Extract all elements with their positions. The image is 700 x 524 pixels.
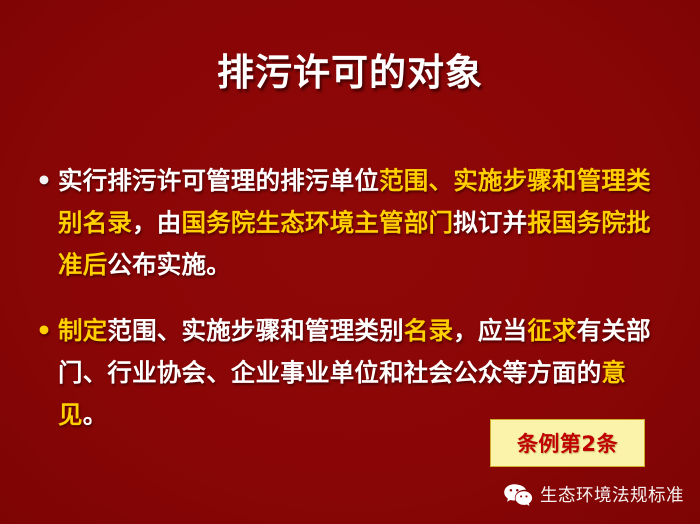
text-run: 制定 <box>58 316 107 345</box>
text-run: 征求 <box>527 316 576 345</box>
list-item: • 实行排污许可管理的排污单位范围、实施步骤和管理类别名录，由国务院生态环境主管… <box>36 160 666 286</box>
bullet-list: • 实行排污许可管理的排污单位范围、实施步骤和管理类别名录，由国务院生态环境主管… <box>36 160 666 436</box>
text-run: 国务院生态环境主管部门 <box>182 208 454 237</box>
text-run: 拟订并 <box>453 208 527 237</box>
bullet-marker-icon: • <box>36 160 58 202</box>
text-run: 范围、实施步骤和管理类别 <box>107 316 403 345</box>
text-run: ，应当 <box>453 316 527 345</box>
reference-badge: 条例第2条 <box>490 419 645 467</box>
reference-badge-label: 条例第2条 <box>517 428 618 458</box>
wechat-icon <box>503 483 533 507</box>
watermark: 生态环境法规标准 <box>503 482 684 507</box>
bullet-text-2: 制定范围、实施步骤和管理类别名录，应当征求有关部门、行业协会、企业事业单位和社会… <box>58 310 666 436</box>
text-run: 名录 <box>404 316 453 345</box>
slide-root: 排污许可的对象 • 实行排污许可管理的排污单位范围、实施步骤和管理类别名录，由国… <box>0 0 700 524</box>
text-run: 。 <box>83 400 108 429</box>
text-run: ，由 <box>132 208 181 237</box>
page-title: 排污许可的对象 <box>0 50 700 96</box>
text-run: 实行排污许可管理的排污单位 <box>58 166 379 195</box>
bullet-marker-icon: • <box>36 310 58 352</box>
bullet-text-1: 实行排污许可管理的排污单位范围、实施步骤和管理类别名录，由国务院生态环境主管部门… <box>58 160 666 286</box>
list-item: • 制定范围、实施步骤和管理类别名录，应当征求有关部门、行业协会、企业事业单位和… <box>36 310 666 436</box>
text-run: 公布实施。 <box>107 250 231 279</box>
watermark-label: 生态环境法规标准 <box>540 482 684 507</box>
